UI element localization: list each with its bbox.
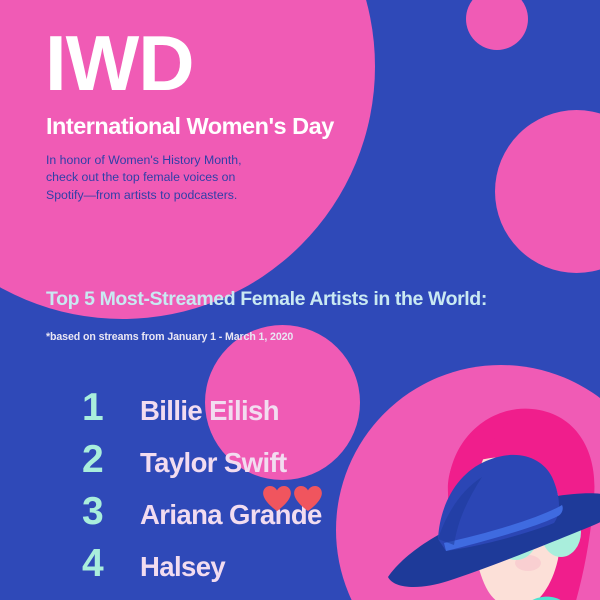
heart-icon (263, 486, 291, 512)
page-subtitle: International Women's Day (46, 113, 334, 140)
page-title: IWD (45, 28, 194, 100)
heart-icon (294, 486, 322, 512)
list-item: 4 Halsey (82, 542, 502, 594)
artist-name: Taylor Swift (140, 447, 287, 479)
list-item: 2 Taylor Swift (82, 438, 502, 490)
rank-number: 4 (82, 542, 140, 586)
hearts-decoration (263, 486, 322, 512)
rank-number: 2 (82, 438, 140, 482)
section-headline: Top 5 Most-Streamed Female Artists in th… (46, 288, 487, 311)
intro-blurb: In honor of Women's History Month, check… (46, 152, 242, 204)
list-item: 1 Billie Eilish (82, 386, 502, 438)
top-right-pink-circle (466, 0, 528, 50)
right-edge-pink-circle (495, 110, 600, 273)
rank-number: 1 (82, 386, 140, 430)
artist-name: Billie Eilish (140, 395, 279, 427)
section-footnote: *based on streams from January 1 - March… (46, 331, 293, 343)
iwd-infographic-poster: IWD International Women's Day In honor o… (0, 0, 600, 600)
rank-number: 3 (82, 490, 140, 534)
artist-name: Halsey (140, 551, 225, 583)
